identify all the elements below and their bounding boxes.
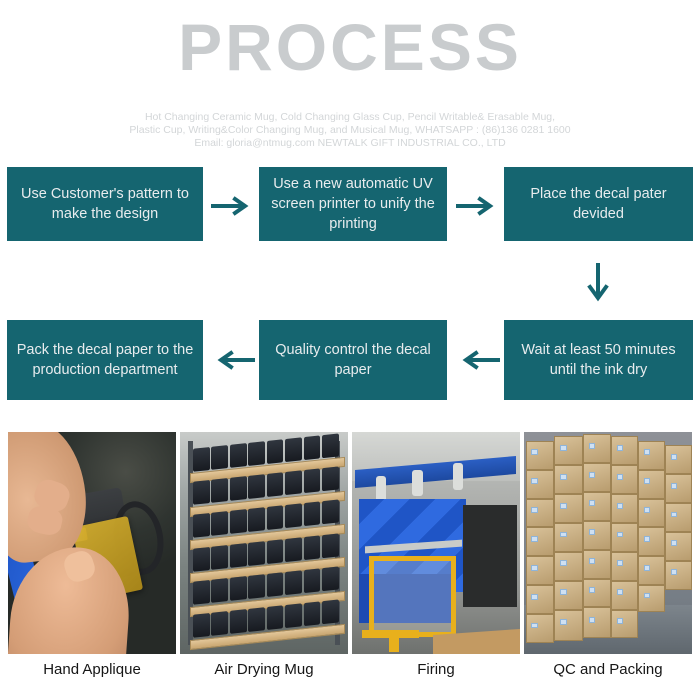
arrow-right-2 (456, 195, 500, 217)
process-step-4-label: Wait at least 50 minutes until the ink d… (512, 340, 685, 380)
contact-line-whatsapp: Plastic Cup, Writing&Color Changing Mug,… (0, 124, 700, 137)
photo-air-drying-mug[interactable] (180, 432, 348, 654)
caption-hand-applique: Hand Applique (8, 656, 176, 684)
photo-hand-applique[interactable] (8, 432, 176, 654)
process-step-5[interactable]: Quality control the decal paper (259, 320, 447, 400)
arrow-right-1 (211, 195, 255, 217)
photo-gallery (0, 432, 700, 654)
process-step-4[interactable]: Wait at least 50 minutes until the ink d… (504, 320, 693, 400)
process-step-2[interactable]: Use a new automatic UV screen printer to… (259, 167, 447, 241)
process-step-5-label: Quality control the decal paper (267, 340, 439, 380)
photo-qc-and-packing[interactable] (524, 432, 692, 654)
process-step-1-label: Use Customer's pattern to make the desig… (15, 184, 195, 224)
contact-line-products: Hot Changing Ceramic Mug, Cold Changing … (0, 111, 700, 124)
contact-line-email-company: Email: gloria@ntmug.com NEWTALK GIFT IND… (0, 137, 700, 150)
company-contact-block: Hot Changing Ceramic Mug, Cold Changing … (0, 111, 700, 150)
process-step-3-label: Place the decal pater devided (512, 184, 685, 224)
process-step-6[interactable]: Pack the decal paper to the production d… (7, 320, 203, 400)
caption-air-drying-mug: Air Drying Mug (180, 656, 348, 684)
process-step-1[interactable]: Use Customer's pattern to make the desig… (7, 167, 203, 241)
process-infographic: PROCESS Hot Changing Ceramic Mug, Cold C… (0, 0, 700, 700)
arrow-down-1 (580, 262, 616, 306)
page-title: PROCESS (0, 14, 700, 80)
caption-firing: Firing (352, 656, 520, 684)
arrow-left-2 (211, 349, 255, 371)
process-step-6-label: Pack the decal paper to the production d… (15, 340, 195, 380)
arrow-left-1 (456, 349, 500, 371)
process-step-3[interactable]: Place the decal pater devided (504, 167, 693, 241)
caption-qc-and-packing: QC and Packing (524, 656, 692, 684)
photo-firing[interactable] (352, 432, 520, 654)
photo-captions: Hand Applique Air Drying Mug Firing QC a… (0, 656, 700, 686)
process-step-2-label: Use a new automatic UV screen printer to… (267, 174, 439, 234)
